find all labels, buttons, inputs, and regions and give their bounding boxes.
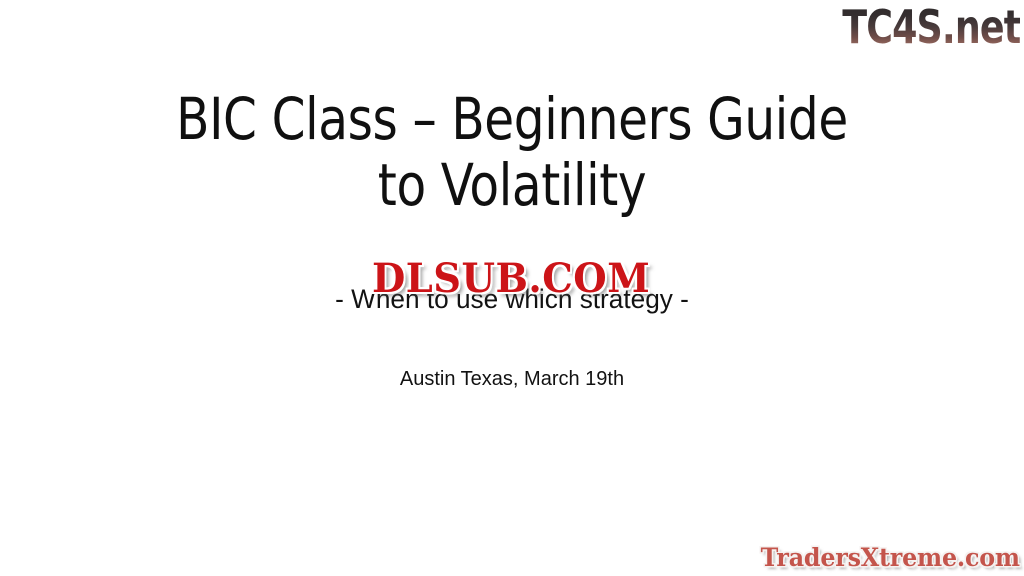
dlsub-watermark: DLSUB.COM [372, 258, 650, 300]
slide-title-line-2: to Volatility [36, 152, 988, 218]
slide-title: BIC Class – Beginners Guide to Volatilit… [0, 86, 1024, 218]
slide-title-line-1: BIC Class – Beginners Guide [36, 86, 988, 152]
slide-date-location: Austin Texas, March 19th [0, 366, 1024, 392]
tc4s-watermark: TC4S.net [842, 2, 1020, 52]
tradersxtreme-watermark: TradersXtreme.com [761, 544, 1020, 572]
presentation-slide: TC4S.net BIC Class – Beginners Guide to … [0, 0, 1024, 576]
